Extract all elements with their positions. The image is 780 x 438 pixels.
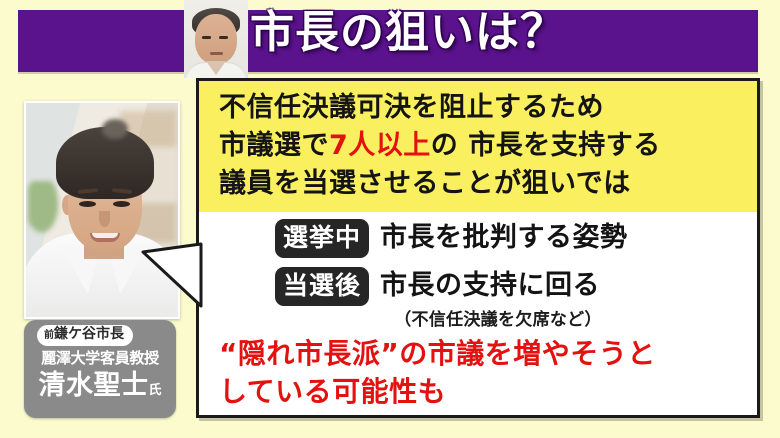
content-bubble: 不信任決議可決を阻止するため 市議選で7人以上の 市長を支持する 議員を当選させ… [196,78,760,418]
summary-line-pre: 不信任決議可決を阻止するため [219,92,604,123]
header-photo-eye-left [202,36,211,39]
broadcast-graphic: 市長の狙いは？ 前鎌ケ谷市長 麗澤大学客員教授 清水聖士氏 不信任決議可決を阻止… [0,0,780,438]
speaker-photo-eye-right [113,201,130,207]
tactic-badge: 選挙中 [275,219,369,258]
tactic-subnote: （不信任決議を欠席など） [199,309,757,331]
speech-bubble-tail [141,242,203,308]
summary-line-post: の 市長を支持する [431,130,661,161]
tactic-badge: 当選後 [275,267,369,306]
summary-line-highlight: 7人以上 [329,130,431,161]
tactic-row: 当選後 市長の支持に回る [199,262,757,310]
summary-line-pre: 市議選で [219,130,329,161]
header-photo-face [195,14,237,64]
tactic-text: 市長の支持に回る [380,271,600,301]
summary-highlight-box: 不信任決議可決を阻止するため 市議選で7人以上の 市長を支持する 議員を当選させ… [199,81,757,212]
speaker-photo-eye-left [79,201,96,207]
speaker-affiliation: 麗澤大学客員教授 [24,349,176,367]
speaker-title-pill: 前鎌ケ谷市長 [37,325,133,346]
speaker-name-suffix: 氏 [148,383,161,398]
speaker-name-text: 清水聖士 [38,370,148,401]
conclusion-line: “隠れ市長派”の市議を増やそうと [219,335,747,373]
header-photo-eye-right [219,36,228,39]
summary-line-pre: 議員を当選させることが狙いでは [219,168,631,199]
speaker-photo-hair [56,127,154,199]
conclusion-block: “隠れ市長派”の市議を増やそうと している可能性も [219,335,747,411]
summary-line: 不信任決議可決を阻止するため [219,89,749,127]
speaker-title-prefix: 前 [44,330,54,341]
summary-line: 議員を当選させることが狙いでは [219,165,749,203]
tactic-row: 選挙中 市長を批判する姿勢 [199,214,757,262]
page-title-question-mark: ？ [520,4,567,58]
speaker-photo-mouth [90,233,120,242]
header-mayor-photo [184,0,248,78]
page-title-text: 市長の狙いは [250,7,520,58]
summary-lines: 不信任決議可決を阻止するため 市議選で7人以上の 市長を支持する 議員を当選させ… [219,89,749,203]
speaker-title-rest: 鎌ケ谷市長 [54,326,124,342]
speaker-photo-plant [28,181,62,239]
header-photo-mouth [210,52,223,55]
summary-line: 市議選で7人以上の 市長を支持する [219,127,749,165]
page-title: 市長の狙いは？ [250,7,567,57]
speaker-name: 清水聖士氏 [24,370,176,407]
tactic-rows: 選挙中 市長を批判する姿勢 当選後 市長の支持に回る （不信任決議を欠席など） [199,214,757,331]
conclusion-line: している可能性も [219,373,747,411]
speaker-photo-nose [99,211,110,227]
tactic-text: 市長を批判する姿勢 [380,223,628,253]
speaker-nameplate: 前鎌ケ谷市長 麗澤大学客員教授 清水聖士氏 [24,320,176,418]
